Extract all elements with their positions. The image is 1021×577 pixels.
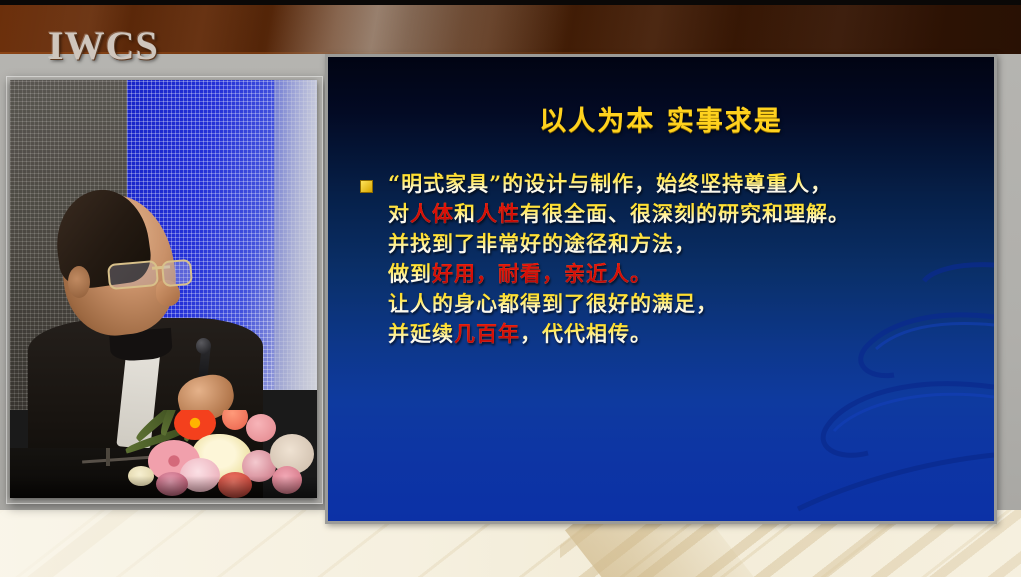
body-text: ，代代相传。 (520, 321, 652, 346)
speaker-ear (68, 266, 90, 298)
line-1: “明式家具”的设计与制作，始终坚持尊重人， (388, 169, 970, 199)
eyeglasses-right-lens (161, 259, 193, 288)
slide-body: “明式家具”的设计与制作，始终坚持尊重人，对人体和人性有很全面、很深刻的研究和理… (360, 169, 970, 349)
emphasis-text: 人性 (476, 201, 520, 226)
led-screen-bright-edge (274, 80, 317, 390)
line-6: 并延续几百年，代代相传。 (388, 319, 970, 349)
emphasis-text: 好用，耐看，亲近人。 (432, 261, 652, 286)
speaker-video-feed (10, 80, 317, 498)
emphasis-text: 几百年 (454, 321, 520, 346)
body-text: 并延续 (388, 321, 454, 346)
body-text: 有很全面、很深刻的研究和理解。 (520, 201, 850, 226)
presentation-screen: IWCS (0, 0, 1021, 577)
top-edge-line (0, 0, 1021, 5)
line-5: 让人的身心都得到了很好的满足， (388, 289, 970, 319)
slide-frame: 以人为本 实事求是 “明式家具”的设计与制作，始终坚持尊重人，对人体和人性有很全… (325, 54, 997, 524)
eyeglasses-left-lens (107, 260, 159, 290)
microphone-head (196, 338, 211, 354)
body-text: 和 (454, 201, 476, 226)
body-text: 让人的身心都得到了很好的满足， (388, 291, 718, 316)
slide-text-lines: “明式家具”的设计与制作，始终坚持尊重人，对人体和人性有很全面、很深刻的研究和理… (388, 169, 970, 349)
iwcs-wordmark: IWCS (48, 22, 159, 69)
emphasis-text: 人体 (410, 201, 454, 226)
slide-title: 以人为本 实事求是 (328, 99, 994, 138)
line-2: 对人体和人性有很全面、很深刻的研究和理解。 (388, 199, 970, 229)
podium-stem (106, 448, 110, 466)
line-3: 并找到了非常好的途径和方法， (388, 229, 970, 259)
line-4: 做到好用，耐看，亲近人。 (388, 259, 970, 289)
body-text: 对 (388, 201, 410, 226)
body-text: “明式家具”的设计与制作，始终坚持尊重人， (388, 171, 832, 196)
photo-bottom-shadow (10, 476, 317, 498)
body-text: 并找到了非常好的途径和方法， (388, 231, 696, 256)
slide-canvas: 以人为本 实事求是 “明式家具”的设计与制作，始终坚持尊重人，对人体和人性有很全… (328, 57, 994, 521)
bullet-row: “明式家具”的设计与制作，始终坚持尊重人，对人体和人性有很全面、很深刻的研究和理… (360, 169, 970, 349)
body-text: 做到 (388, 261, 432, 286)
square-bullet-icon (360, 180, 373, 193)
